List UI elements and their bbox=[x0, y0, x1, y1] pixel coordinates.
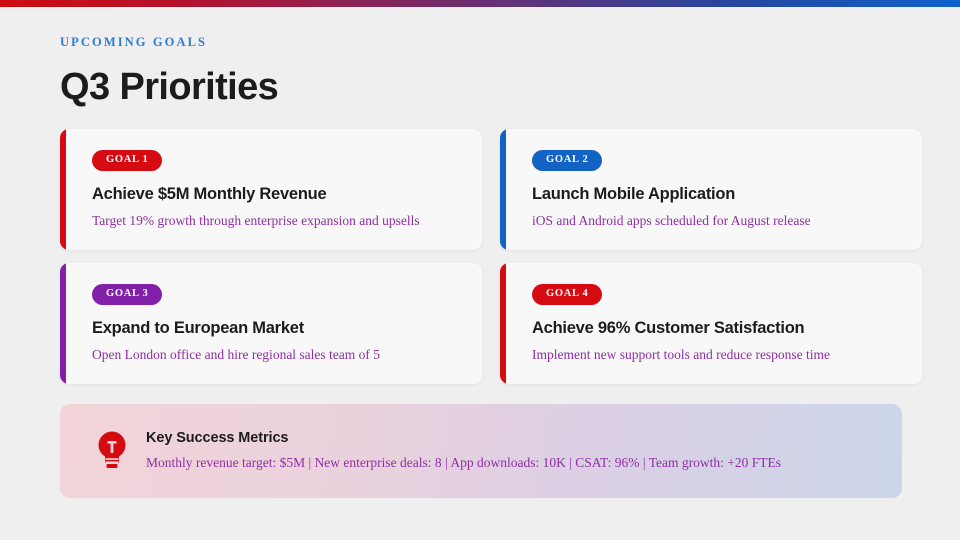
goal-badge: GOAL 1 bbox=[92, 150, 162, 171]
goal-badge: GOAL 3 bbox=[92, 284, 162, 305]
eyebrow-label: UPCOMING GOALS bbox=[60, 36, 278, 49]
goal-card[interactable]: GOAL 1 Achieve $5M Monthly Revenue Targe… bbox=[60, 129, 482, 250]
goal-description: Implement new support tools and reduce r… bbox=[532, 347, 900, 363]
goals-grid: GOAL 1 Achieve $5M Monthly Revenue Targe… bbox=[60, 129, 902, 384]
goal-card[interactable]: GOAL 2 Launch Mobile Application iOS and… bbox=[500, 129, 922, 250]
metrics-body: Monthly revenue target: $5M | New enterp… bbox=[146, 455, 781, 471]
goal-card[interactable]: GOAL 3 Expand to European Market Open Lo… bbox=[60, 263, 482, 384]
goal-title: Expand to European Market bbox=[92, 319, 460, 338]
metrics-title: Key Success Metrics bbox=[146, 430, 781, 446]
key-metrics-bar: Key Success Metrics Monthly revenue targ… bbox=[60, 404, 902, 498]
goal-accent-bar bbox=[60, 263, 66, 384]
top-accent-bar bbox=[0, 0, 960, 7]
slide-header: UPCOMING GOALS Q3 Priorities bbox=[60, 36, 278, 107]
lightbulb-icon bbox=[86, 429, 138, 473]
slide-root: UPCOMING GOALS Q3 Priorities GOAL 1 Achi… bbox=[0, 0, 960, 540]
goal-description: Open London office and hire regional sal… bbox=[92, 347, 460, 363]
goal-accent-bar bbox=[60, 129, 66, 250]
goal-title: Launch Mobile Application bbox=[532, 185, 900, 204]
goal-accent-bar bbox=[500, 263, 506, 384]
metrics-text-block: Key Success Metrics Monthly revenue targ… bbox=[146, 430, 781, 471]
goal-title: Achieve 96% Customer Satisfaction bbox=[532, 319, 900, 338]
goal-title: Achieve $5M Monthly Revenue bbox=[92, 185, 460, 204]
goal-badge: GOAL 2 bbox=[532, 150, 602, 171]
goal-accent-bar bbox=[500, 129, 506, 250]
goal-description: iOS and Android apps scheduled for Augus… bbox=[532, 213, 900, 229]
goal-description: Target 19% growth through enterprise exp… bbox=[92, 213, 460, 229]
goal-card[interactable]: GOAL 4 Achieve 96% Customer Satisfaction… bbox=[500, 263, 922, 384]
goal-badge: GOAL 4 bbox=[532, 284, 602, 305]
page-title: Q3 Priorities bbox=[60, 68, 278, 108]
